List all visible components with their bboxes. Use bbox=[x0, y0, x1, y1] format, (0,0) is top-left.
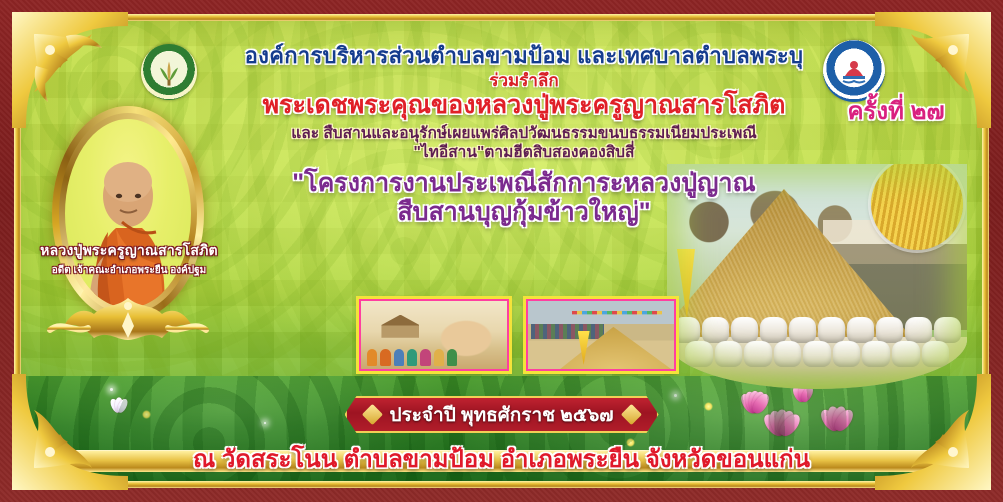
monk-portrait-frame bbox=[52, 106, 204, 321]
purpose-line-2: "ไทอีสาน"ตามฮีตสิบสองคองสิบสี่ bbox=[204, 144, 844, 163]
lotus-flower bbox=[758, 401, 806, 437]
gold-ornament-base-icon bbox=[28, 294, 228, 352]
sparkle bbox=[110, 388, 113, 391]
monk-photo bbox=[65, 119, 191, 308]
gold-rule-bottom bbox=[14, 481, 989, 488]
emblem-left-label bbox=[141, 44, 197, 100]
project-line-2: สืบสานบุญกุ้มข้าวใหญ่" bbox=[204, 198, 844, 227]
headline-text-block: องค์การบริหารส่วนตำบลขามป้อม และเทศบาลตำ… bbox=[204, 44, 844, 227]
lotus-flower bbox=[814, 398, 860, 432]
edition-badge: ครั้งที่ ๒๗ bbox=[821, 100, 971, 124]
monk-figure-icon bbox=[65, 162, 191, 308]
diamond-ornament-icon bbox=[620, 404, 641, 425]
lotus-flower bbox=[105, 392, 134, 413]
organization-line: องค์การบริหารส่วนตำบลขามป้อม และเทศบาลตำ… bbox=[204, 44, 844, 69]
monk-name: หลวงปู่พระครูญาณสารโสภิต bbox=[14, 240, 244, 262]
gold-rule-right bbox=[982, 14, 989, 488]
diamond-ornament-icon bbox=[361, 404, 382, 425]
emblem-sao-khampom[interactable] bbox=[141, 44, 197, 100]
project-line-1: "โครงการงานประเพณีสักการะหลวงปู่ญาณ bbox=[204, 169, 844, 198]
banner-panel: หลวงปู่พระครูญาณสารโสภิต อดีต เจ้าคณะอำเ… bbox=[14, 14, 989, 488]
monk-title: อดีต เจ้าคณะอำเภอพระยืน องค์ปฐม bbox=[14, 263, 244, 278]
inset-photo-festival[interactable] bbox=[526, 299, 676, 371]
sparkle bbox=[674, 394, 677, 397]
crowd-row bbox=[531, 324, 604, 339]
glow-dot bbox=[142, 410, 151, 419]
ribbon-year-text: ประจำปี พุทธศักราช ๒๕๖๗ bbox=[389, 400, 613, 430]
thatched-hut-icon bbox=[381, 315, 419, 338]
commemoration-line: ร่วมรำลึก bbox=[204, 72, 844, 91]
sparkle bbox=[264, 422, 266, 424]
venue-line: ณ วัดสระโนน ตำบลขามป้อม อำเภอพระยืน จังห… bbox=[14, 448, 989, 472]
portrait-caption: หลวงปู่พระครูญาณสารโสภิต อดีต เจ้าคณะอำเ… bbox=[14, 240, 244, 278]
glow-dot bbox=[704, 402, 713, 411]
villagers-group bbox=[367, 342, 458, 366]
gold-rule-left bbox=[14, 14, 21, 488]
flag-bunting-icon bbox=[572, 311, 663, 322]
event-banner: หลวงปู่พระครูญาณสารโสภิต อดีต เจ้าคณะอำเ… bbox=[0, 0, 1003, 502]
honoree-line: พระเดชพระคุณของหลวงปู่พระครูญาณสารโสภิต bbox=[204, 92, 844, 120]
inset-photo-painting[interactable] bbox=[359, 299, 509, 371]
purpose-line-1: และ สืบสานและอนุรักษ์เผยแพร่ศิลปวัฒนธรรม… bbox=[204, 125, 844, 144]
painting-scene bbox=[361, 301, 507, 369]
year-ribbon: ประจำปี พุทธศักราช ๒๕๖๗ bbox=[344, 396, 658, 433]
gold-rule-top bbox=[14, 14, 989, 21]
festival-scene bbox=[528, 301, 674, 369]
